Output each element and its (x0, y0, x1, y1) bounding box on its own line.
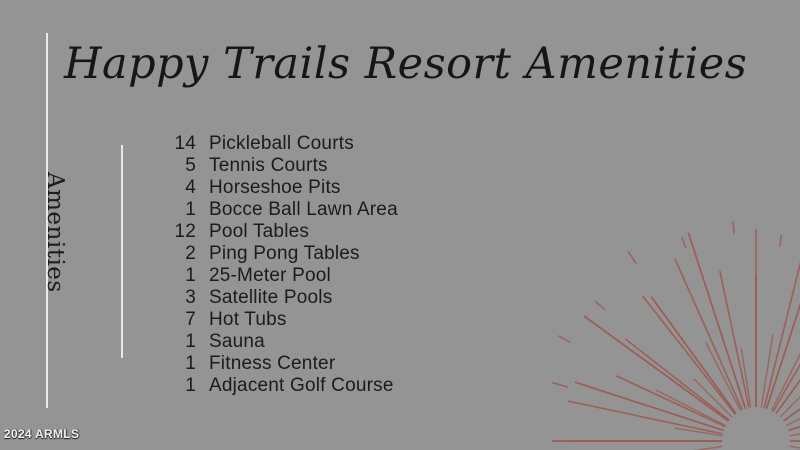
amenities-list: 14Pickleball Courts5Tennis Courts4Horses… (150, 133, 570, 397)
amenity-count: 5 (150, 155, 196, 177)
amenity-row: 12Pool Tables (150, 221, 570, 243)
amenity-label: Horseshoe Pits (209, 177, 341, 199)
amenity-label: Fitness Center (209, 353, 335, 375)
amenity-count: 14 (150, 133, 196, 155)
amenity-row: 2Ping Pong Tables (150, 243, 570, 265)
amenity-label: Bocce Ball Lawn Area (209, 199, 398, 221)
amenity-row: 5Tennis Courts (150, 155, 570, 177)
section-side-label: Amenities (42, 172, 68, 293)
amenity-row: 1Bocce Ball Lawn Area (150, 199, 570, 221)
amenity-row: 7Hot Tubs (150, 309, 570, 331)
amenity-row: 125-Meter Pool (150, 265, 570, 287)
amenity-count: 2 (150, 243, 196, 265)
amenity-label: Pickleball Courts (209, 133, 354, 155)
amenity-row: 3Satellite Pools (150, 287, 570, 309)
amenity-label: Hot Tubs (209, 309, 287, 331)
amenity-count: 4 (150, 177, 196, 199)
amenity-row: 1Fitness Center (150, 353, 570, 375)
amenity-row: 1Sauna (150, 331, 570, 353)
amenity-label: Sauna (209, 331, 265, 353)
amenity-label: Satellite Pools (209, 287, 332, 309)
amenity-count: 1 (150, 353, 196, 375)
amenity-label: Ping Pong Tables (209, 243, 360, 265)
amenity-count: 1 (150, 331, 196, 353)
amenity-count: 1 (150, 375, 196, 397)
amenity-label: Tennis Courts (209, 155, 328, 177)
watermark: 2024 ARMLS (4, 427, 79, 441)
amenity-count: 1 (150, 199, 196, 221)
amenity-count: 7 (150, 309, 196, 331)
amenity-row: 4Horseshoe Pits (150, 177, 570, 199)
amenity-label: Adjacent Golf Course (209, 375, 394, 397)
amenity-row: 1Adjacent Golf Course (150, 375, 570, 397)
amenity-label: Pool Tables (209, 221, 309, 243)
slide-canvas: Happy Trails Resort Amenities Amenities … (0, 0, 800, 450)
vertical-rule-inner (121, 145, 123, 358)
amenity-row: 14Pickleball Courts (150, 133, 570, 155)
amenity-count: 1 (150, 265, 196, 287)
amenity-count: 3 (150, 287, 196, 309)
amenity-label: 25-Meter Pool (209, 265, 331, 287)
amenity-count: 12 (150, 221, 196, 243)
page-title: Happy Trails Resort Amenities (64, 38, 747, 90)
